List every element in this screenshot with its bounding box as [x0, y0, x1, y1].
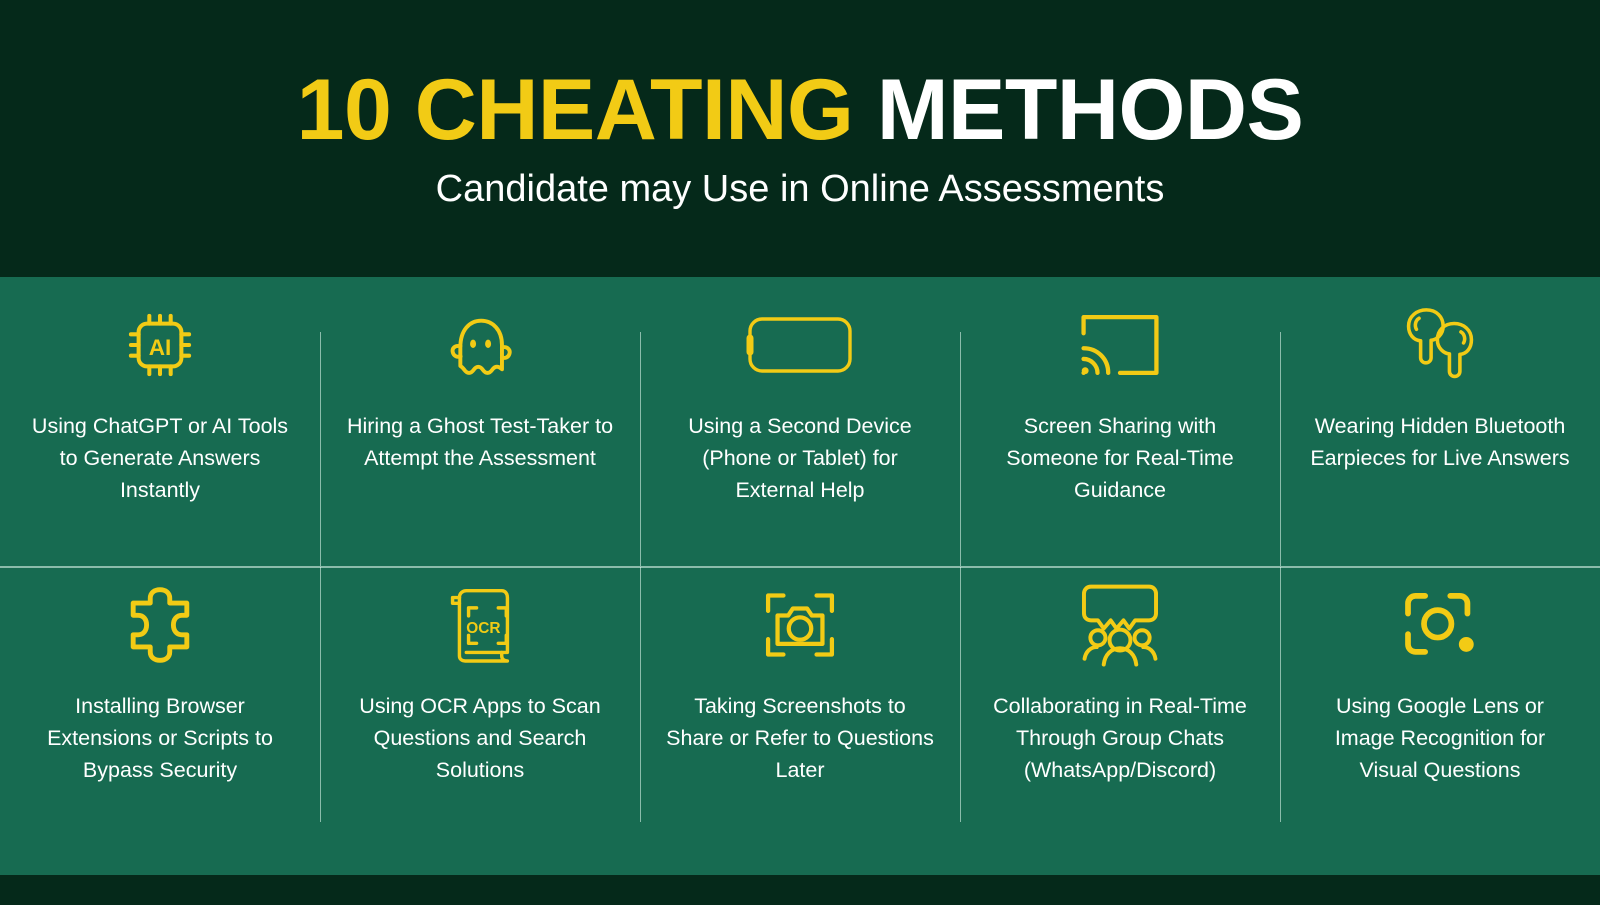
grid-divider-vertical-bottom-3: [960, 567, 962, 822]
method-card-1[interactable]: AI Using ChatGPT or AI Tools to Generate…: [0, 277, 320, 557]
method-label-9: Collaborating in Real-Time Through Group…: [985, 691, 1255, 786]
puzzle-piece-icon: [121, 583, 199, 667]
method-card-10[interactable]: Using Google Lens or Image Recognition f…: [1280, 557, 1600, 837]
screenshot-camera-icon: [761, 583, 839, 667]
method-label-8: Taking Screenshots to Share or Refer to …: [665, 691, 935, 786]
method-card-5[interactable]: Wearing Hidden Bluetooth Earpieces for L…: [1280, 277, 1600, 557]
title-accent-text: 10 CHEATING: [297, 62, 854, 158]
grid-divider-vertical-bottom-1: [320, 567, 322, 822]
method-label-5: Wearing Hidden Bluetooth Earpieces for L…: [1305, 411, 1575, 475]
page-title: 10 CHEATING METHODS: [297, 67, 1304, 153]
page-subtitle: Candidate may Use in Online Assessments: [436, 169, 1165, 211]
method-label-10: Using Google Lens or Image Recognition f…: [1305, 691, 1575, 786]
method-card-9[interactable]: Collaborating in Real-Time Through Group…: [960, 557, 1280, 837]
infographic-poster: 10 CHEATING METHODS Candidate may Use in…: [0, 0, 1600, 905]
tablet-device-icon: [745, 303, 855, 387]
ai-chip-icon-text: AI: [149, 335, 172, 360]
method-card-8[interactable]: Taking Screenshots to Share or Refer to …: [640, 557, 960, 837]
method-label-4: Screen Sharing with Someone for Real-Tim…: [985, 411, 1255, 506]
ai-chip-icon: AI: [122, 303, 198, 387]
grid-divider-vertical-top-3: [960, 332, 962, 566]
earbuds-icon: [1396, 303, 1484, 387]
method-card-7[interactable]: OCR Using OCR Apps to Scan Questions and…: [320, 557, 640, 837]
google-lens-icon: [1400, 583, 1480, 667]
title-plain-text: METHODS: [877, 62, 1304, 158]
grid-divider-vertical-bottom-2: [640, 567, 642, 822]
methods-grid-wrapper: AI Using ChatGPT or AI Tools to Generate…: [0, 277, 1600, 905]
method-label-6: Installing Browser Extensions or Scripts…: [25, 691, 295, 786]
poster-header: 10 CHEATING METHODS Candidate may Use in…: [0, 0, 1600, 277]
grid-divider-vertical-bottom-4: [1280, 567, 1282, 822]
method-label-1: Using ChatGPT or AI Tools to Generate An…: [25, 411, 295, 506]
grid-divider-horizontal: [0, 566, 1600, 568]
methods-grid: AI Using ChatGPT or AI Tools to Generate…: [0, 277, 1600, 837]
group-chat-icon: [1078, 583, 1162, 667]
grid-divider-vertical-top-4: [1280, 332, 1282, 566]
method-label-2: Hiring a Ghost Test-Taker to Attempt the…: [345, 411, 615, 475]
ocr-scroll-icon: OCR: [442, 583, 518, 667]
screen-cast-icon: [1075, 303, 1165, 387]
ocr-scroll-icon-text: OCR: [466, 620, 500, 637]
grid-divider-vertical-top-2: [640, 332, 642, 566]
ghost-icon: [440, 303, 520, 387]
method-label-7: Using OCR Apps to Scan Questions and Sea…: [345, 691, 615, 786]
method-card-2[interactable]: Hiring a Ghost Test-Taker to Attempt the…: [320, 277, 640, 557]
method-card-4[interactable]: Screen Sharing with Someone for Real-Tim…: [960, 277, 1280, 557]
grid-divider-vertical-top-1: [320, 332, 322, 566]
method-card-3[interactable]: Using a Second Device (Phone or Tablet) …: [640, 277, 960, 557]
method-card-6[interactable]: Installing Browser Extensions or Scripts…: [0, 557, 320, 837]
footer-bar: [0, 875, 1600, 905]
method-label-3: Using a Second Device (Phone or Tablet) …: [665, 411, 935, 506]
